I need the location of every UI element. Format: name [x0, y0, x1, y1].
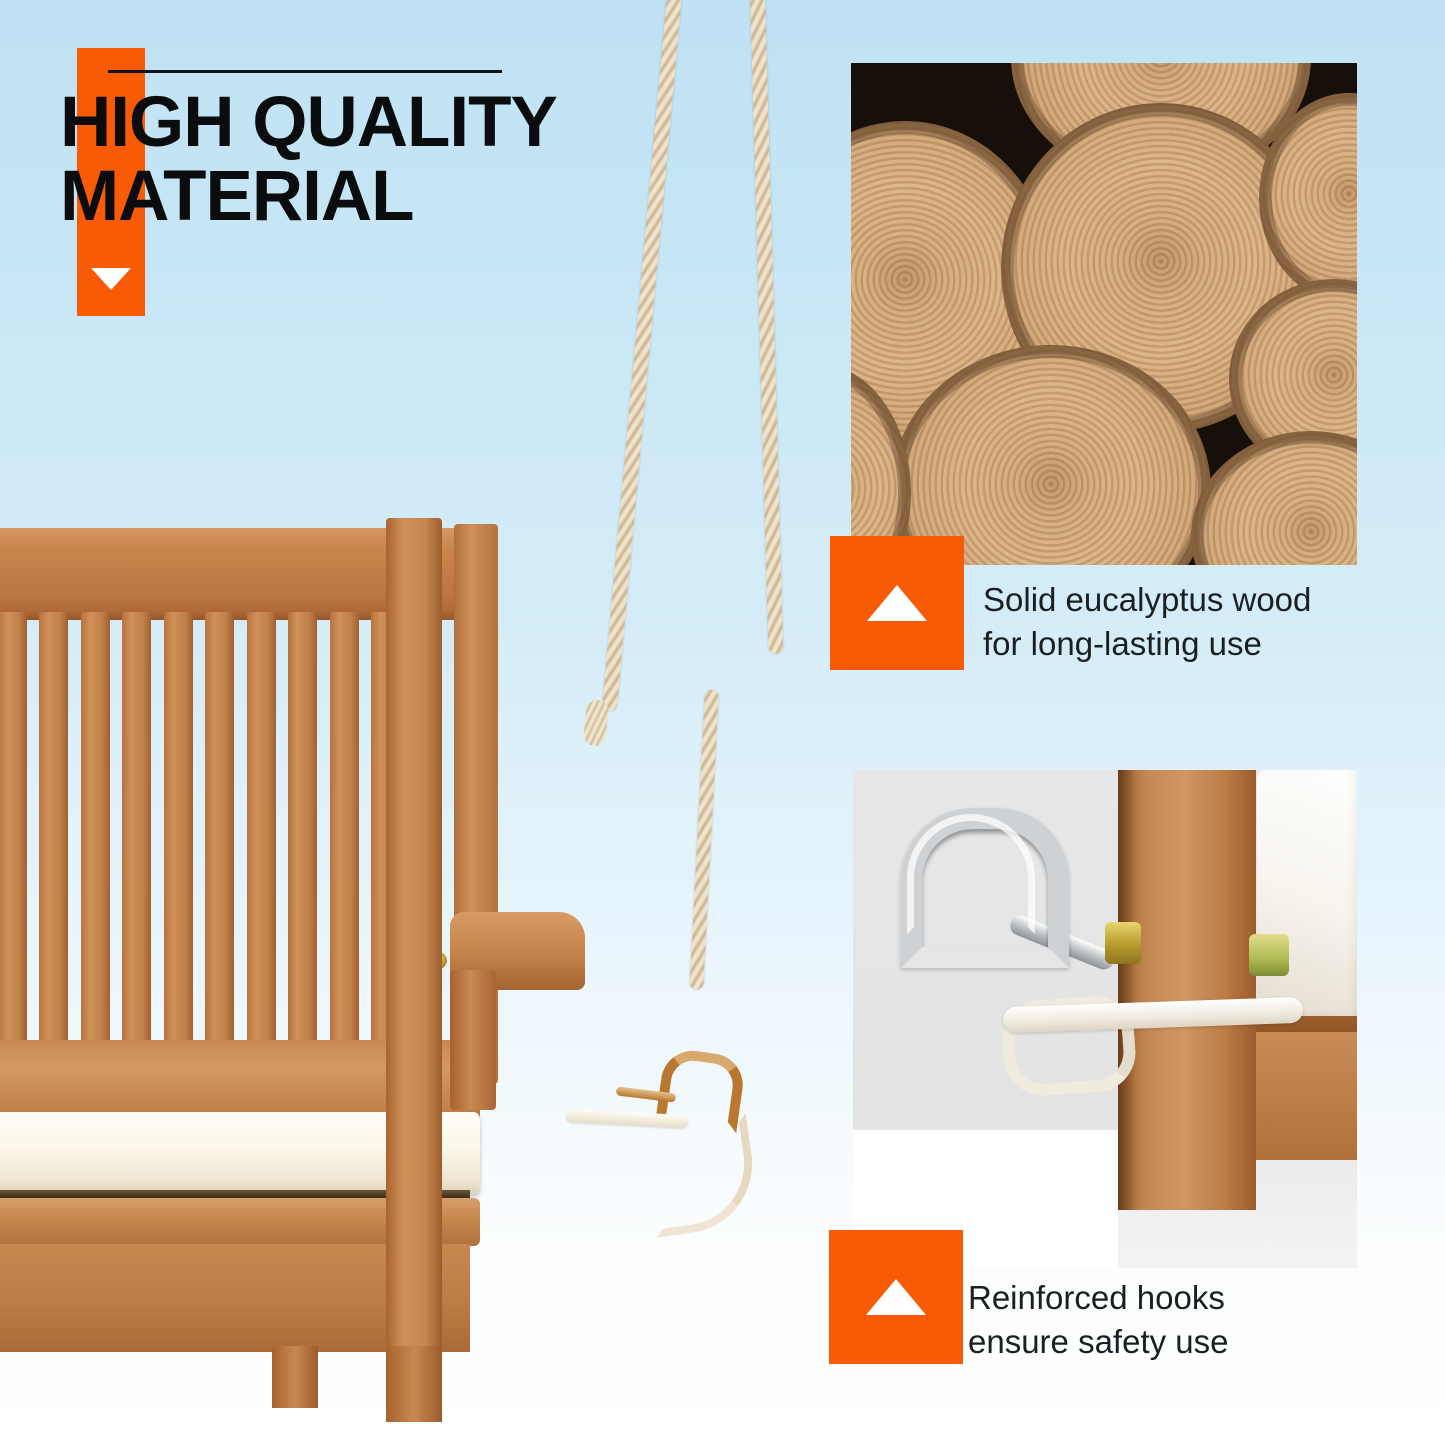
swing-back-slat: [330, 612, 359, 1062]
swing-back-slat: [164, 612, 193, 1062]
wood-logs-photo: [851, 63, 1357, 565]
swing-seat-edge: [1253, 1032, 1357, 1160]
hook-nut-far: [1249, 934, 1289, 976]
hook-nut: [1105, 922, 1141, 964]
swing-leg-left: [272, 1346, 318, 1408]
swing-back-slat: [122, 612, 151, 1062]
swing-back-slat: [39, 612, 68, 1062]
swing-back-slat: [288, 612, 317, 1062]
log-bark: [1191, 431, 1357, 565]
product-photo-porch-swing: [0, 500, 690, 1340]
swing-leg-right: [386, 1346, 442, 1422]
hook-highlight: [907, 814, 1035, 934]
swing-back-slat: [81, 612, 110, 1062]
swing-front-post: [386, 518, 442, 1368]
swing-armrest-support: [450, 970, 496, 1110]
hook-detail-photo: [853, 770, 1357, 1268]
swing-back-slat: [247, 612, 276, 1062]
triangle-up-icon: [866, 1279, 926, 1315]
header-divider-rule: [108, 70, 502, 73]
swing-back-slat: [205, 612, 234, 1062]
cushion-corner: [1257, 770, 1357, 1016]
marketing-banner: HIGH QUALITY MATERIAL: [0, 0, 1445, 1445]
post-shadow: [1118, 770, 1136, 1210]
feature-caption-material: Solid eucalyptus wood for long-lasting u…: [983, 578, 1413, 666]
page-title: HIGH QUALITY MATERIAL: [60, 86, 780, 234]
triangle-up-icon: [867, 585, 927, 621]
feature-badge-hooks: [829, 1230, 963, 1364]
swing-wood-post: [1118, 770, 1256, 1210]
feature-badge-material: [830, 536, 964, 670]
caret-down-icon: [91, 268, 131, 290]
log-round: [1191, 431, 1357, 565]
swing-back-slat: [0, 612, 27, 1062]
feature-caption-hooks: Reinforced hooks ensure safety use: [968, 1276, 1398, 1364]
